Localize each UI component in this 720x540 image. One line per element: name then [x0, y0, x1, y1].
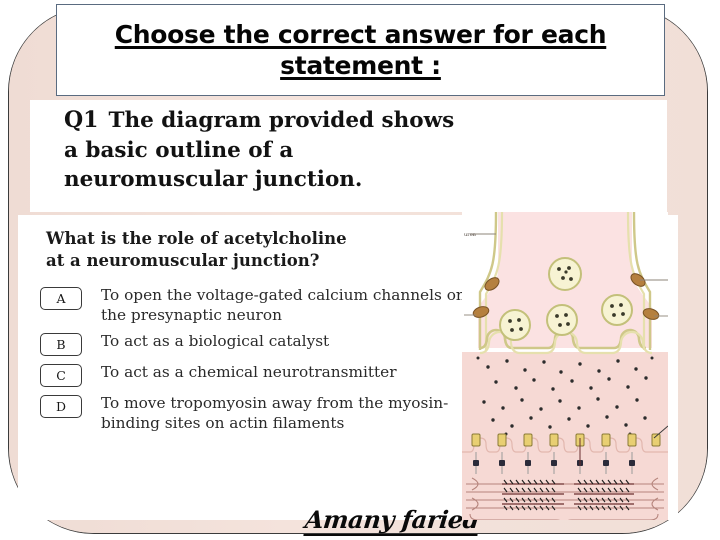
title-card: Choose the correct answer for each state…	[56, 4, 665, 96]
question-prompt-line-2: at a neuromuscular junction?	[46, 250, 466, 272]
slide-root: Choose the correct answer for each state…	[0, 0, 720, 540]
question-intro-line-1: Q1The diagram provided shows	[64, 106, 667, 136]
option-text-b: To act as a biological catalyst	[101, 332, 329, 352]
neuromuscular-junction-diagram: uron	[462, 212, 668, 520]
option-text-d: To move tropomyosin away from the myosin…	[101, 394, 472, 433]
option-text-a: To open the voltage-gated calcium channe…	[101, 286, 472, 325]
option-key-c[interactable]: C	[40, 364, 82, 387]
muscle-fibre-body	[462, 352, 668, 520]
option-row-c[interactable]: C To act as a chemical neurotransmitter	[40, 363, 472, 387]
option-text-c: To act as a chemical neurotransmitter	[101, 363, 397, 383]
question-intro-text-1: The diagram provided shows	[108, 108, 454, 133]
option-key-a[interactable]: A	[40, 287, 82, 310]
page-title: Choose the correct answer for each state…	[57, 19, 664, 82]
option-row-b[interactable]: B To act as a biological catalyst	[40, 332, 472, 356]
question-prompt: What is the role of acetylcholine at a n…	[46, 228, 466, 272]
question-intro-line-2: a basic outline of a	[64, 136, 667, 165]
author-signature: Amany faried	[303, 505, 480, 536]
option-key-d[interactable]: D	[40, 395, 82, 418]
question-intro-card: Q1The diagram provided shows a basic out…	[30, 100, 667, 212]
neuron-label: uron	[464, 232, 477, 238]
question-prompt-line-1: What is the role of acetylcholine	[46, 228, 466, 250]
option-key-b[interactable]: B	[40, 333, 82, 356]
options-list: A To open the voltage-gated calcium chan…	[40, 286, 472, 441]
question-number: Q1	[64, 107, 98, 133]
option-row-a[interactable]: A To open the voltage-gated calcium chan…	[40, 286, 472, 325]
option-row-d[interactable]: D To move tropomyosin away from the myos…	[40, 394, 472, 433]
question-intro-line-3: neuromuscular junction.	[64, 165, 667, 194]
